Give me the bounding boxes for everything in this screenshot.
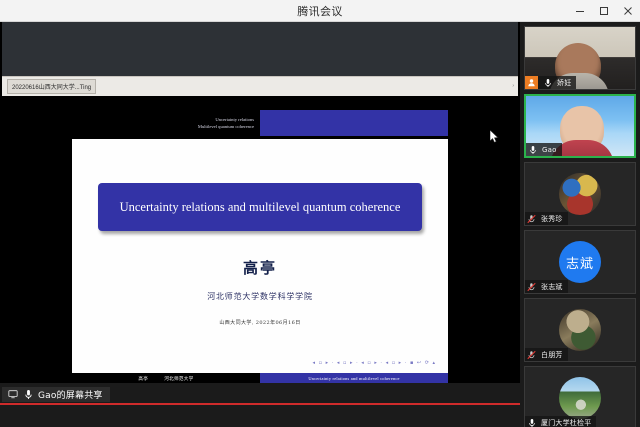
window-controls [568,0,640,22]
window-title: 腾讯会议 [297,3,343,19]
participant-name: 张秀珍 [541,214,563,224]
mic-off-icon [525,212,538,225]
slide-footer-title: Uncertainty relations and multilevel coh… [308,376,399,381]
slide-date-location: 山西大同大学, 2022年06月16日 [72,319,448,326]
mic-on-icon [22,388,35,401]
minimize-icon[interactable] [568,0,592,22]
taskbar-tab-presentation[interactable]: 20220616山西大同大学...Ting [7,79,96,94]
participant-label: 娇妊 [525,76,576,89]
participant-name: Gao [542,146,557,154]
beamer-navigation-symbols[interactable]: ◂ ▫ ▸ · ◂ ▫ ▸ · ◂ ▫ ▸ · ◂ ▫ ▸ · ▪ ↩ ⟳ ▴ [313,360,436,366]
participant-label: 张志斌 [525,280,568,293]
mic-on-icon [541,76,554,89]
participant-label: Gao [526,143,562,156]
participant-name: 娇妊 [557,78,571,88]
participant-label: 张秀珍 [525,212,568,225]
participant-tile[interactable]: 张秀珍 [524,162,636,226]
taskbar-overflow-icon[interactable]: › [512,83,514,89]
monitor-icon [6,388,19,401]
shared-screen-area[interactable]: 20220616山西大同大学...Ting › Uncertainty rela… [0,22,520,405]
remote-taskbar: 20220616山西大同大学...Ting › [2,76,518,96]
avatar: 志斌 [559,241,601,283]
slide-header-labels: Uncertainty relations Multilevel quantum… [72,110,260,136]
share-indicator-label: Gao的屏幕共享 [38,388,103,401]
participant-name: 张志斌 [541,282,563,292]
participant-name: 厦门大学杜检平 [541,418,591,427]
presentation-viewport: Uncertainty relations Multilevel quantum… [2,96,518,403]
beamer-slide: Uncertainty relations Multilevel quantum… [72,139,448,384]
tencent-meeting-window: 腾讯会议 20220616山西大同大学...Ting › Uncert [0,0,640,427]
slide-header-line1: Uncertainty relations [215,116,254,123]
window-titlebar: 腾讯会议 [0,0,640,22]
participant-name: 白朋芳 [541,350,563,360]
slide-header: Uncertainty relations Multilevel quantum… [72,110,448,136]
slide-title: Uncertainty relations and multilevel qua… [120,199,401,216]
slide-affiliation: 河北师范大学数学科学学院 [72,291,448,302]
participant-tile[interactable]: 厦门大学杜检平 [524,366,636,427]
close-icon[interactable] [616,0,640,22]
slide-header-line2: Multilevel quantum coherence [198,123,254,130]
mic-on-icon [526,143,539,156]
mouse-cursor-icon [490,130,499,143]
slide-footer-author: 高亭 [138,376,148,382]
maximize-icon[interactable] [592,0,616,22]
mic-off-icon [525,280,538,293]
mic-on-icon [525,416,538,427]
participant-tile[interactable]: 志斌 张志斌 [524,230,636,294]
slide-author: 高亭 [72,257,448,278]
avatar [559,309,601,351]
participant-tile[interactable]: Gao [524,94,636,158]
avatar [559,173,601,215]
host-person-icon [525,76,538,89]
share-indicator-chip[interactable]: Gao的屏幕共享 [2,387,110,402]
slide-title-box: Uncertainty relations and multilevel qua… [98,183,422,231]
participant-filmstrip[interactable]: 娇妊 Gao [520,22,640,427]
participant-tile[interactable]: 娇妊 [524,26,636,90]
avatar [559,377,601,419]
slide-header-accent-bar [260,110,448,136]
mic-off-icon [525,348,538,361]
participant-label: 白朋芳 [525,348,568,361]
slide-footer-institution: 河北师范大学 [164,376,193,382]
participant-tile[interactable]: 白朋芳 [524,298,636,362]
participant-label: 厦门大学杜检平 [525,416,596,427]
share-accent-line [0,403,520,405]
screen-share-statusbar: Gao的屏幕共享 [0,383,520,405]
